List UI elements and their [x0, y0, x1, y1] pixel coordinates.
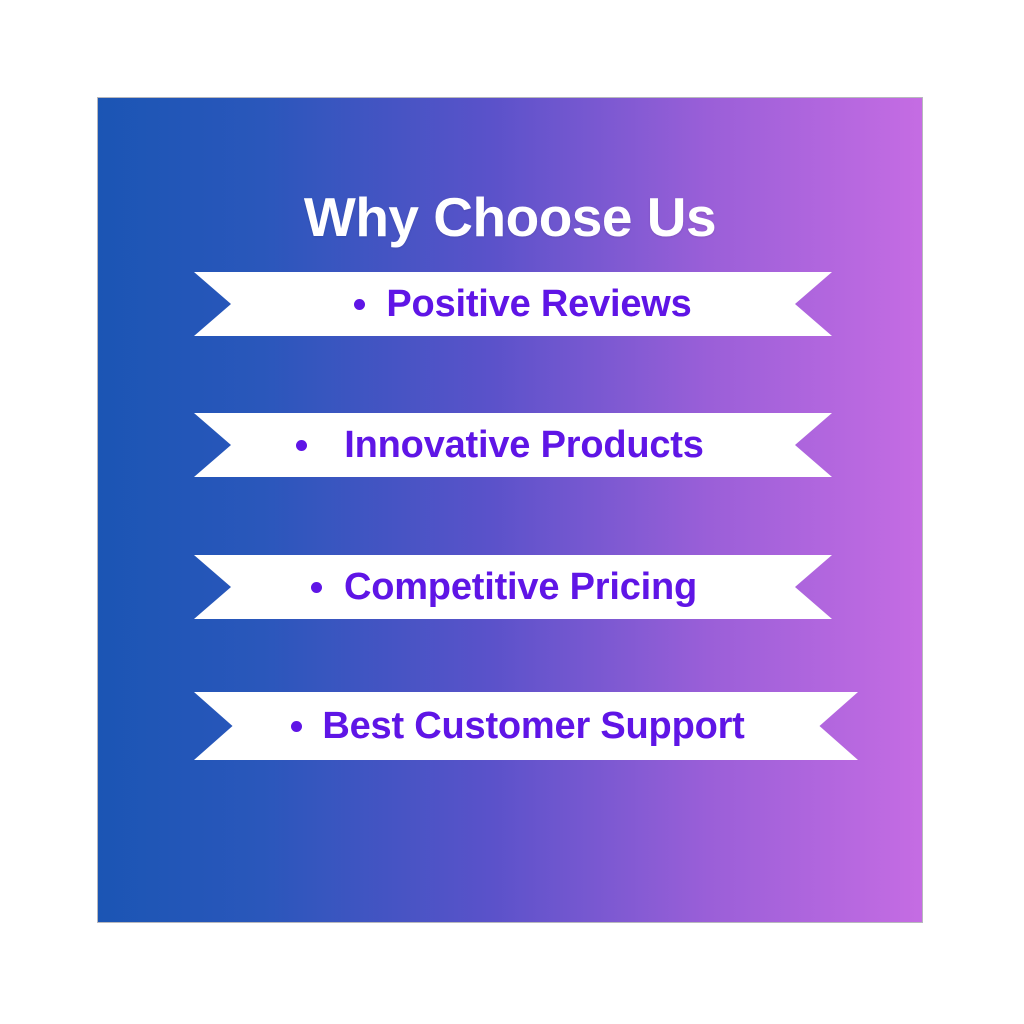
- why-choose-us-poster: Why Choose Us Positive Reviews Innovativ…: [97, 97, 923, 923]
- list-item[interactable]: Positive Reviews: [194, 272, 832, 336]
- list-item-label: Competitive Pricing: [344, 568, 697, 606]
- ribbon-content: Innovative Products: [296, 426, 703, 464]
- list-item-label: Best Customer Support: [322, 707, 744, 745]
- bullet-dot-icon: [296, 440, 307, 451]
- list-item-label: Positive Reviews: [386, 285, 691, 323]
- bullet-dot-icon: [354, 299, 365, 310]
- list-item[interactable]: Competitive Pricing: [194, 555, 832, 619]
- bullet-dot-icon: [311, 582, 322, 593]
- ribbon-content: Best Customer Support: [291, 707, 744, 745]
- list-item-label: Innovative Products: [344, 426, 703, 464]
- ribbon-content: Competitive Pricing: [311, 568, 697, 606]
- ribbon-content: Positive Reviews: [354, 285, 691, 323]
- benefit-ribbon-list: Positive Reviews Innovative Products Com…: [98, 98, 922, 922]
- list-item[interactable]: Innovative Products: [194, 413, 832, 477]
- list-item[interactable]: Best Customer Support: [194, 692, 858, 760]
- bullet-dot-icon: [291, 721, 302, 732]
- poster-canvas: Why Choose Us Positive Reviews Innovativ…: [0, 0, 1024, 1024]
